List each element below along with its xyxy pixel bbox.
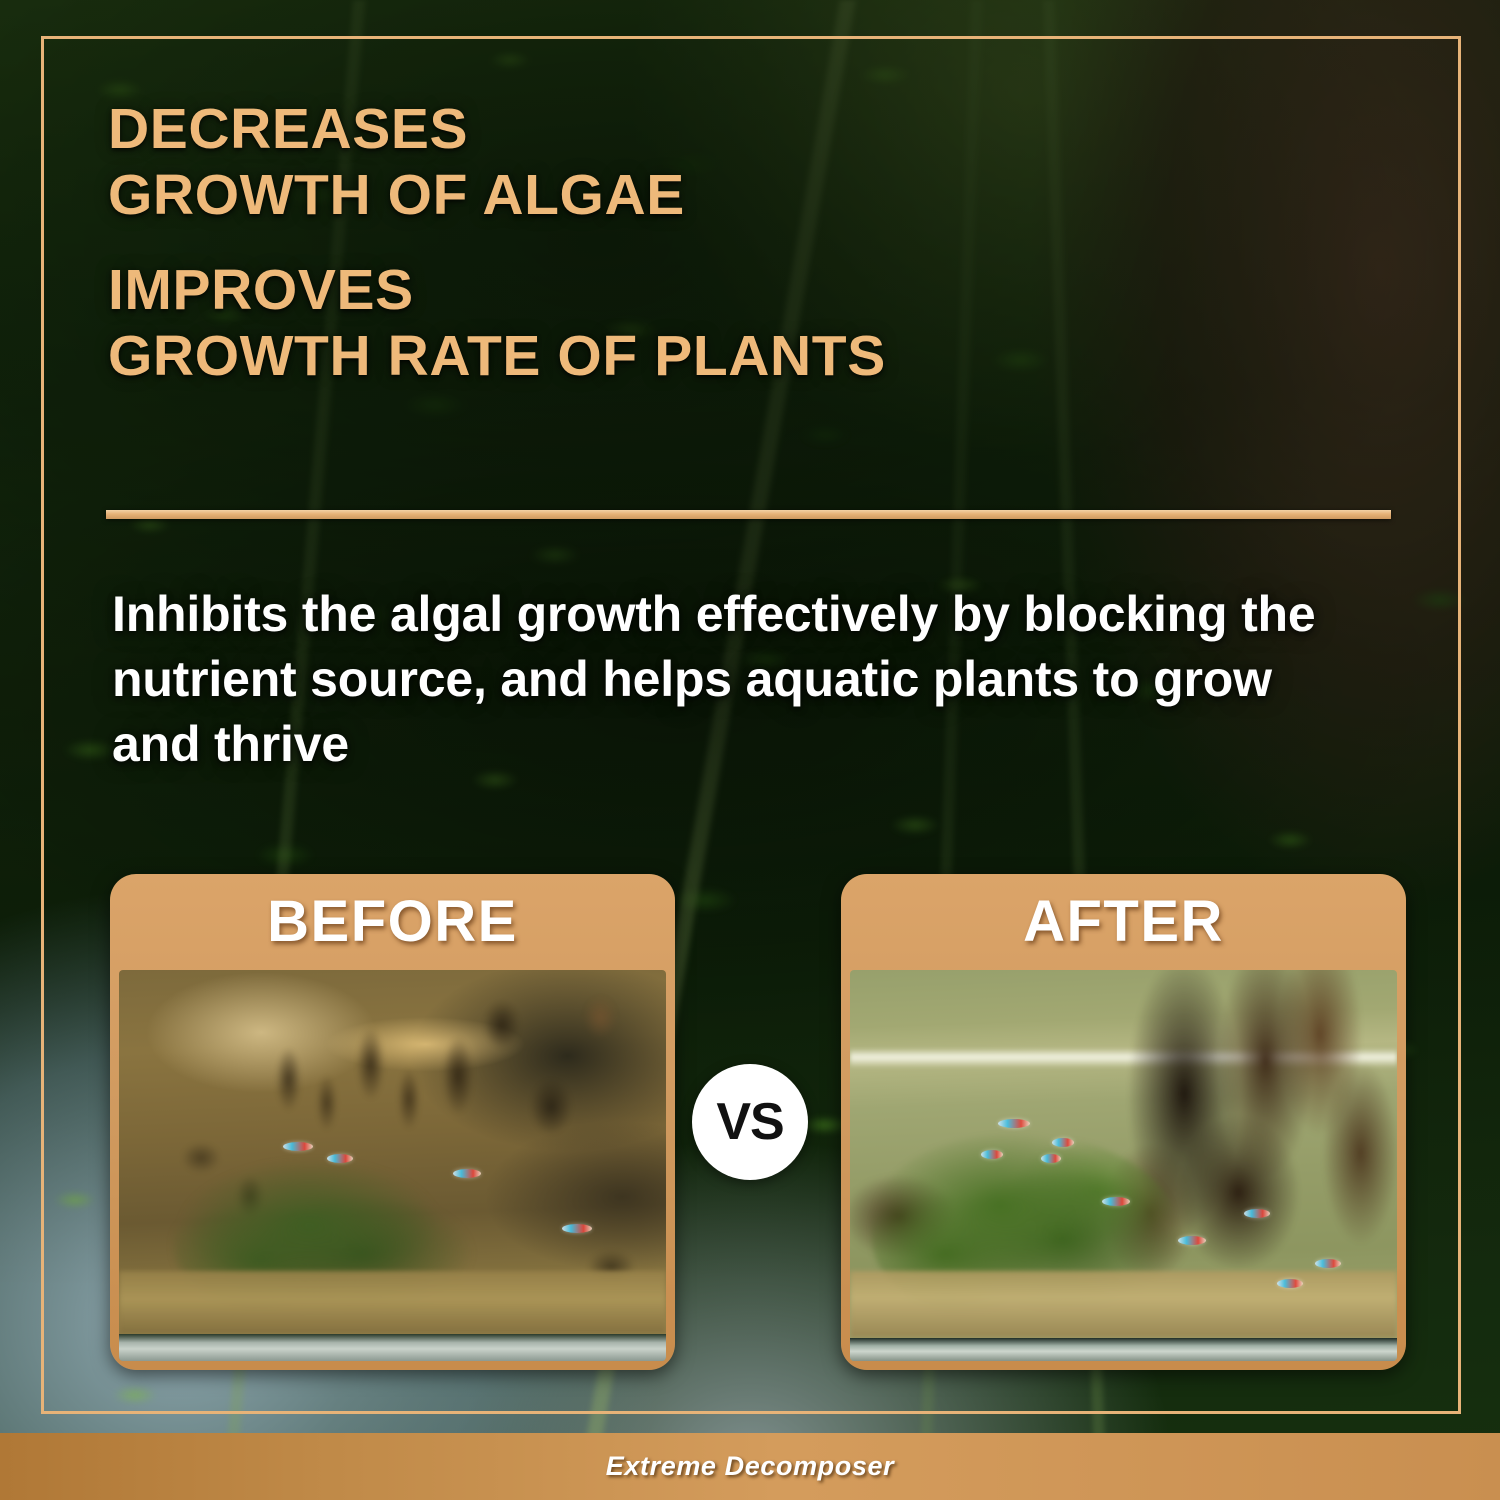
product-name-label: Extreme Decomposer bbox=[606, 1451, 894, 1482]
headline-block: DECREASES GROWTH OF ALGAE IMPROVES GROWT… bbox=[108, 96, 1158, 389]
before-card-title: BEFORE bbox=[119, 874, 666, 970]
versus-badge-label: VS bbox=[716, 1092, 783, 1152]
after-fish-6 bbox=[1178, 1236, 1206, 1245]
before-fish-2 bbox=[327, 1154, 353, 1163]
after-card-title: AFTER bbox=[850, 874, 1397, 970]
after-fish-1 bbox=[998, 1119, 1030, 1128]
footer-bar: Extreme Decomposer bbox=[0, 1433, 1500, 1500]
headline-line-3: IMPROVES bbox=[108, 257, 1158, 323]
after-fish-5 bbox=[1102, 1197, 1130, 1206]
after-fish-4 bbox=[1041, 1154, 1061, 1163]
versus-badge: VS bbox=[692, 1064, 808, 1180]
headline-spacer bbox=[108, 228, 1158, 257]
headline-line-1: DECREASES bbox=[108, 96, 1158, 162]
after-substrate bbox=[850, 1271, 1397, 1337]
headline-line-2: GROWTH OF ALGAE bbox=[108, 162, 1158, 228]
after-fish-9 bbox=[1277, 1279, 1303, 1288]
after-fish-7 bbox=[1244, 1209, 1270, 1218]
before-aquarium-photo bbox=[119, 970, 666, 1361]
horizontal-divider bbox=[106, 510, 1391, 519]
before-card: BEFORE bbox=[110, 874, 675, 1370]
product-infographic: DECREASES GROWTH OF ALGAE IMPROVES GROWT… bbox=[0, 0, 1500, 1500]
after-aquarium-photo bbox=[850, 970, 1397, 1361]
after-card: AFTER bbox=[841, 874, 1406, 1370]
subcopy-paragraph: Inhibits the algal growth effectively by… bbox=[112, 582, 1342, 777]
before-substrate bbox=[119, 1271, 666, 1334]
before-fish-1 bbox=[283, 1142, 313, 1151]
after-tank-rim bbox=[850, 1338, 1397, 1361]
after-fish-3 bbox=[981, 1150, 1003, 1159]
before-tank-rim bbox=[119, 1334, 666, 1361]
headline-line-4: GROWTH RATE OF PLANTS bbox=[108, 323, 1158, 389]
